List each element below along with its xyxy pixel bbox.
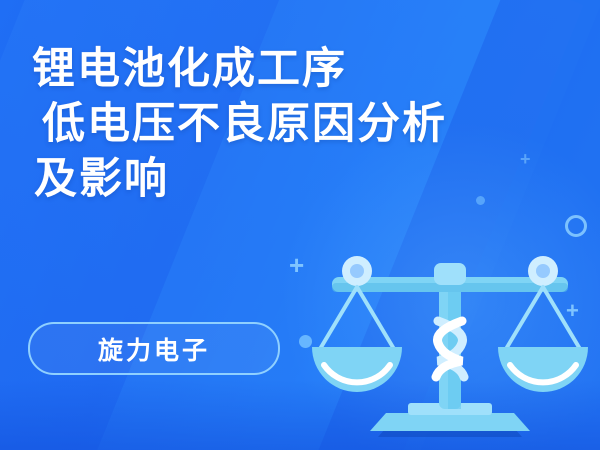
dot-icon — [476, 196, 485, 205]
title-line-1: 锂电池化成工序 — [32, 42, 462, 97]
brand-badge: 旋力电子 — [28, 322, 280, 375]
poster-title: 锂电池化成工序 低电压不良原因分析 及影响 — [32, 42, 462, 207]
poster-canvas: + + + 锂电池化成工序 低电压不良原因分析 及影响 旋力电子 — [0, 0, 600, 450]
brand-label: 旋力电子 — [98, 331, 210, 367]
balance-scale-illustration — [300, 225, 600, 450]
plus-icon: + — [520, 150, 531, 168]
title-line-3: 及影响 — [32, 152, 462, 207]
title-line-2: 低电压不良原因分析 — [32, 97, 462, 152]
